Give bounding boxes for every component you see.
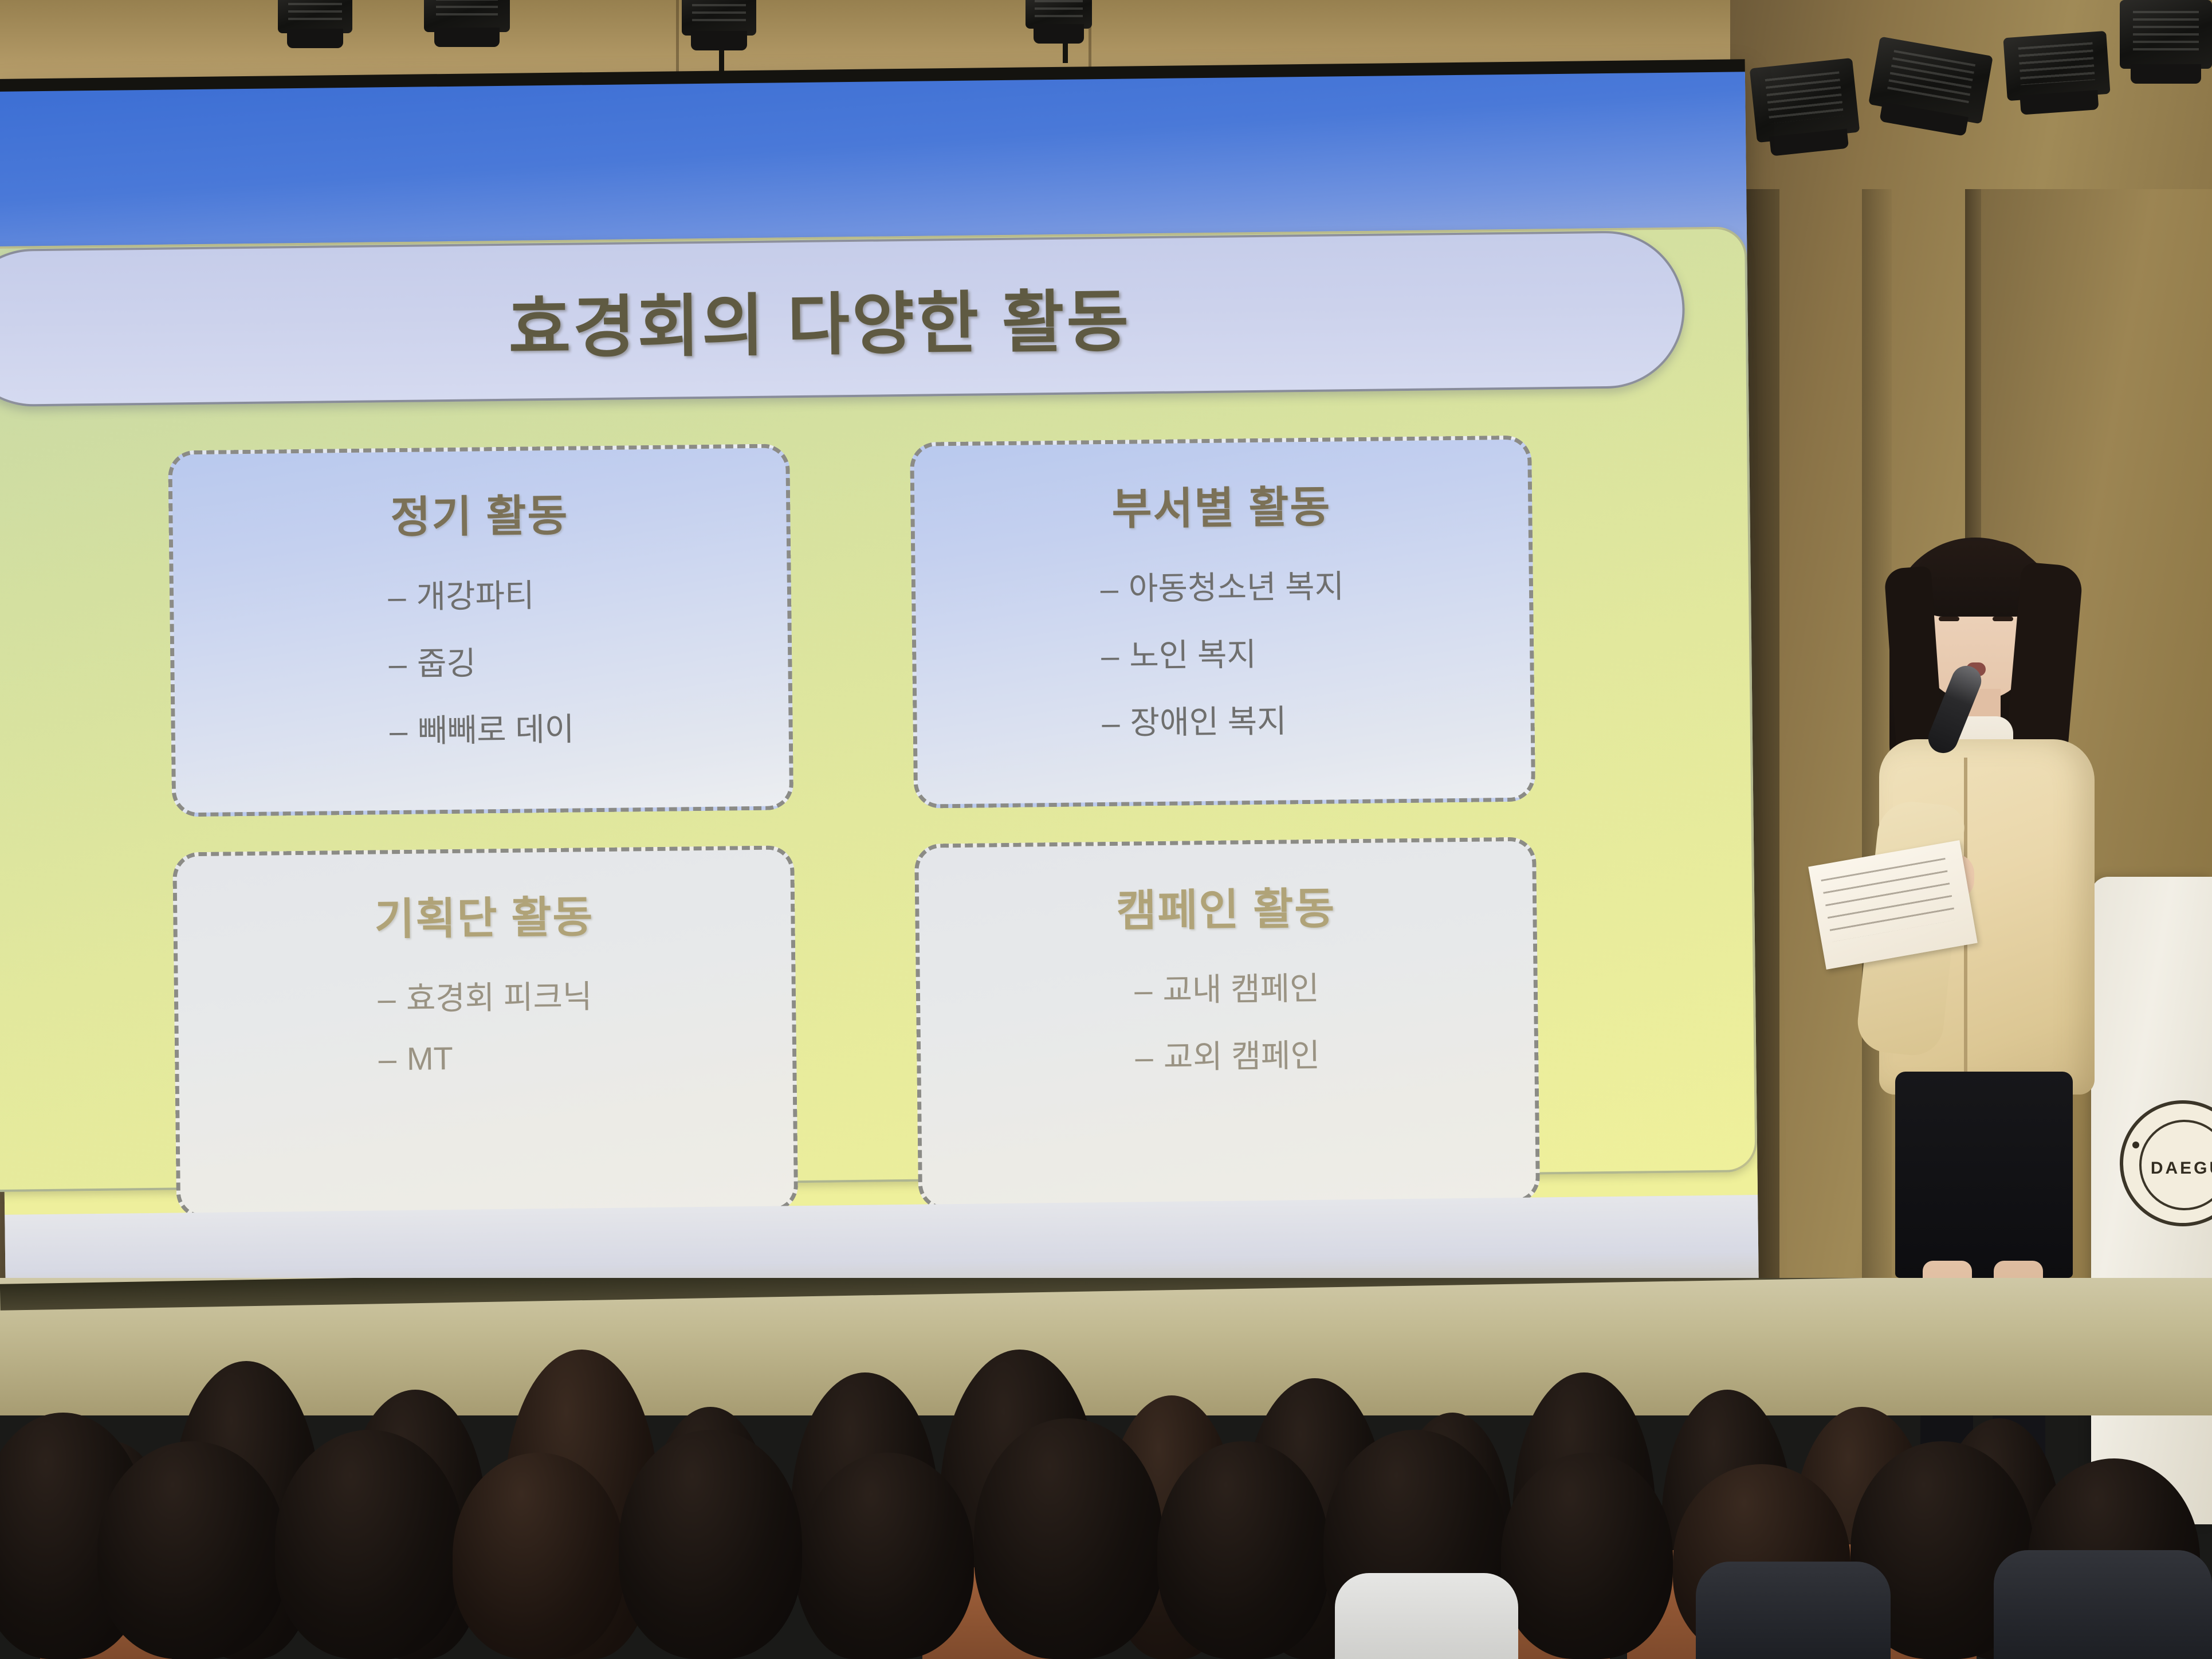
presenter-eye-right (1993, 617, 2013, 621)
audience-head (791, 1372, 940, 1659)
slide-title-banner: 효경회의 다양한 활동 (0, 230, 1685, 407)
list-item-label: 아동청소년 복지 (1128, 560, 1344, 609)
presenter-arm (1855, 798, 1966, 1058)
audience-head (1850, 1441, 2034, 1659)
presenter-collar (1946, 716, 2013, 779)
list-item: –MT (378, 1038, 593, 1077)
bullet-dash-icon: – (1135, 1038, 1153, 1076)
audience-head (1392, 1413, 1512, 1659)
audience-head (647, 1407, 773, 1659)
list-item-label: 노인 복지 (1129, 629, 1257, 677)
stage-light-fixture (278, 0, 352, 33)
presenter-neck (1955, 689, 2001, 734)
stage-light-fixture (424, 0, 510, 32)
list-item: –개강파티 (388, 570, 573, 618)
auditorium-presentation-photo: 효경회의 다양한 활동 정기 활동 –개강파티 –줍깅 –빼빼로 데이 부서별 … (0, 0, 2212, 1659)
audience-head (1793, 1407, 1931, 1659)
bullet-dash-icon: – (388, 645, 407, 683)
podium-emblem-inner-ring (2139, 1120, 2212, 1210)
audience-head (172, 1361, 321, 1659)
presenter-hair-right (2000, 562, 2084, 818)
auditorium-chair (922, 1567, 1066, 1659)
light-stem (309, 0, 315, 16)
audience-head (1673, 1464, 1850, 1659)
stage-light-fixture (2120, 0, 2212, 69)
stage-light-fixture (1026, 0, 1092, 29)
audience-head (1936, 1418, 2062, 1659)
audience-head (0, 1413, 149, 1659)
audience-head (453, 1453, 624, 1659)
bullet-dash-icon: – (1134, 971, 1153, 1009)
presentation-slide: 효경회의 다양한 활동 정기 활동 –개강파티 –줍깅 –빼빼로 데이 부서별 … (0, 72, 1758, 1215)
presenter (1822, 533, 2143, 1364)
list-item-label: 교외 캠페인 (1163, 1030, 1320, 1078)
list-item: –빼빼로 데이 (390, 704, 575, 752)
presenter-bangs (1914, 541, 2041, 617)
list-item: –효경회 피크닉 (378, 971, 592, 1019)
audience-head (1243, 1378, 1386, 1659)
stage-light-fixture (682, 0, 756, 36)
bullet-dash-icon: – (378, 1040, 396, 1077)
list-item-label: 교내 캠페인 (1162, 963, 1319, 1011)
auditorium-chair (1467, 1556, 1610, 1659)
list-item-label: 장애인 복지 (1130, 695, 1287, 743)
audience-shoulder (1335, 1573, 1518, 1659)
audience-head (974, 1418, 1163, 1659)
audience-head (275, 1430, 464, 1659)
presenter-hair-left (1884, 566, 1947, 798)
light-stem (464, 0, 469, 30)
bullet-dash-icon: – (1100, 570, 1118, 607)
auditorium-chair (1627, 1550, 1782, 1659)
presenter-hand (1924, 854, 1974, 900)
auditorium-chair (40, 1573, 172, 1659)
presenter-eye-left (1939, 617, 1959, 621)
bullet-dash-icon: – (1102, 704, 1120, 742)
audience-head (1661, 1390, 1793, 1659)
audience-head (1157, 1441, 1329, 1659)
list-item: –줍깅 (388, 637, 573, 685)
audience-head (1106, 1395, 1237, 1659)
card-item-list: –아동청소년 복지 –노인 복지 –장애인 복지 (1100, 560, 1346, 744)
microphone (1924, 661, 1986, 758)
audience-head (504, 1350, 659, 1659)
card-title: 캠페인 활동 (1116, 873, 1336, 938)
audience-head (52, 1441, 172, 1659)
bullet-dash-icon: – (390, 712, 408, 750)
card-title: 정기 활동 (390, 480, 569, 546)
card-planning-team-activities[interactable]: 기획단 활동 –효경회 피크닉 –MT (172, 845, 798, 1218)
card-regular-activities[interactable]: 정기 활동 –개강파티 –줍깅 –빼빼로 데이 (168, 444, 793, 817)
stage-light-fixture (2003, 31, 2110, 101)
list-item-label: 빼빼로 데이 (418, 704, 575, 752)
auditorium-chair (1816, 1544, 1977, 1659)
list-item: –교외 캠페인 (1135, 1030, 1320, 1078)
audience-head (344, 1390, 487, 1659)
audience-head (97, 1441, 286, 1659)
bullet-dash-icon: – (1101, 637, 1119, 674)
card-department-activities[interactable]: 부서별 활동 –아동청소년 복지 –노인 복지 –장애인 복지 (910, 436, 1535, 809)
audience-head (1501, 1453, 1673, 1659)
audience-shoulder (1994, 1550, 2212, 1659)
list-item-label: 효경회 피크닉 (406, 971, 592, 1019)
card-title: 기획단 활동 (374, 881, 594, 947)
presenter-mouth (1966, 662, 1986, 676)
card-campaign-activities[interactable]: 캠페인 활동 –교내 캠페인 –교외 캠페인 (914, 837, 1540, 1210)
activity-card-grid: 정기 활동 –개강파티 –줍깅 –빼빼로 데이 부서별 활동 –아동청소년 복지… (168, 436, 1540, 1219)
stage-light-fixture (1868, 37, 1993, 124)
audience-head (1512, 1372, 1656, 1659)
audience (0, 1278, 2212, 1659)
presenter-cardigan (1879, 739, 2095, 1095)
card-title: 부서별 활동 (1111, 472, 1331, 537)
script-paper (1808, 840, 1978, 970)
list-item: –아동청소년 복지 (1100, 560, 1344, 610)
list-item-label: MT (407, 1040, 454, 1077)
card-item-list: –교내 캠페인 –교외 캠페인 (1134, 963, 1321, 1078)
page-title: 효경회의 다양한 활동 (508, 266, 1131, 371)
card-item-list: –효경회 피크닉 –MT (378, 971, 593, 1077)
list-item-label: 개강파티 (416, 570, 535, 617)
stage-edge-trim (0, 1278, 1891, 1311)
cardigan-seam (1964, 758, 1967, 1084)
light-stem (719, 0, 724, 96)
presenter-hair (1889, 538, 2061, 813)
list-item: –장애인 복지 (1102, 695, 1346, 744)
audience-head (1323, 1430, 1507, 1659)
stage-floor (0, 1278, 2212, 1415)
audience-head (2028, 1458, 2200, 1659)
wall-seam (1839, 0, 1842, 189)
light-stem (1063, 0, 1068, 63)
stage-light-fixture (1750, 58, 1860, 143)
audience-head (619, 1430, 802, 1659)
bullet-dash-icon: – (388, 578, 406, 615)
list-item: –노인 복지 (1101, 627, 1345, 677)
list-item: –교내 캠페인 (1134, 963, 1319, 1011)
bullet-dash-icon: – (378, 980, 396, 1017)
projection-screen: 효경회의 다양한 활동 정기 활동 –개강파티 –줍깅 –빼빼로 데이 부서별 … (0, 72, 1759, 1318)
audience-head (802, 1453, 974, 1659)
audience-shoulder (1696, 1562, 1891, 1659)
card-item-list: –개강파티 –줍깅 –빼빼로 데이 (388, 570, 575, 752)
audience-head (940, 1350, 1100, 1659)
list-item-label: 줍깅 (417, 637, 476, 684)
presenter-face (1924, 563, 2028, 699)
presenter-skirt (1895, 1072, 2073, 1278)
